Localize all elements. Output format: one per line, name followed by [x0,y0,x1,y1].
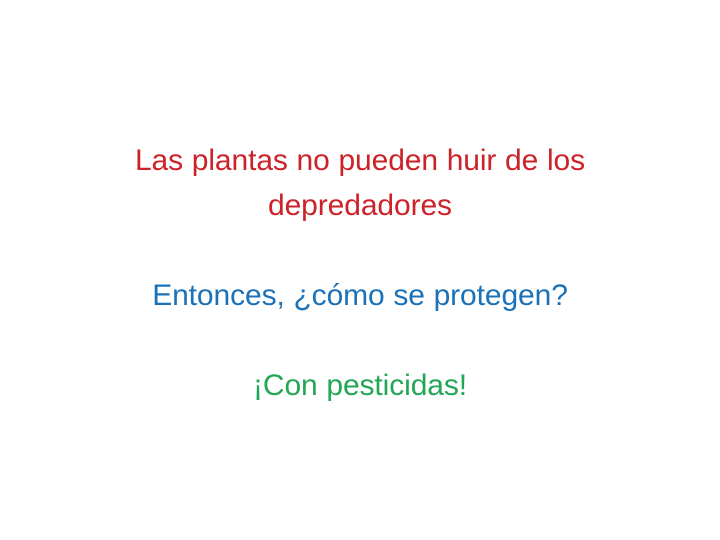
paragraph-answer: ¡Con pesticidas! [60,363,660,408]
paragraph-spacer-two [60,318,660,363]
paragraph-spacer-one [60,228,660,273]
slide-text-block: Las plantas no pueden huir de los depred… [60,138,660,408]
paragraph-question: Entonces, ¿cómo se protegen? [60,273,660,318]
paragraph-statement: Las plantas no pueden huir de los depred… [60,138,660,228]
slide-canvas: Las plantas no pueden huir de los depred… [0,0,720,540]
